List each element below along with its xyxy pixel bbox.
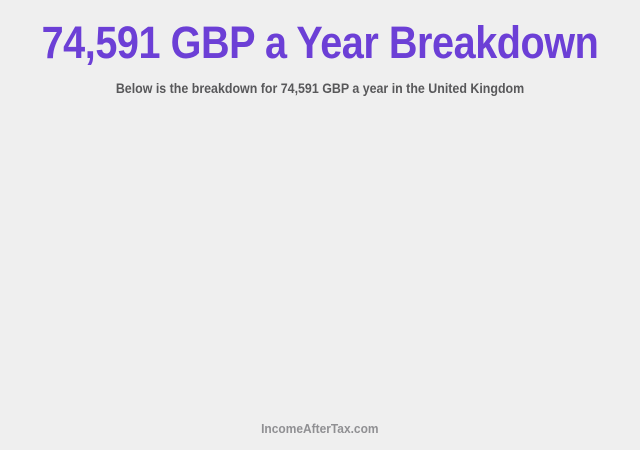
- page-title: 74,591 GBP a Year Breakdown: [38, 0, 601, 68]
- income-breakdown-page: 74,591 GBP a Year Breakdown Below is the…: [0, 0, 640, 450]
- page-subtitle: Below is the breakdown for 74,591 GBP a …: [26, 68, 615, 98]
- chart-plot-area: [0, 120, 640, 405]
- page-footer: IncomeAfterTax.com: [0, 420, 640, 438]
- page-header: 74,591 GBP a Year Breakdown Below is the…: [0, 0, 640, 98]
- site-name-label: IncomeAfterTax.com: [261, 421, 378, 437]
